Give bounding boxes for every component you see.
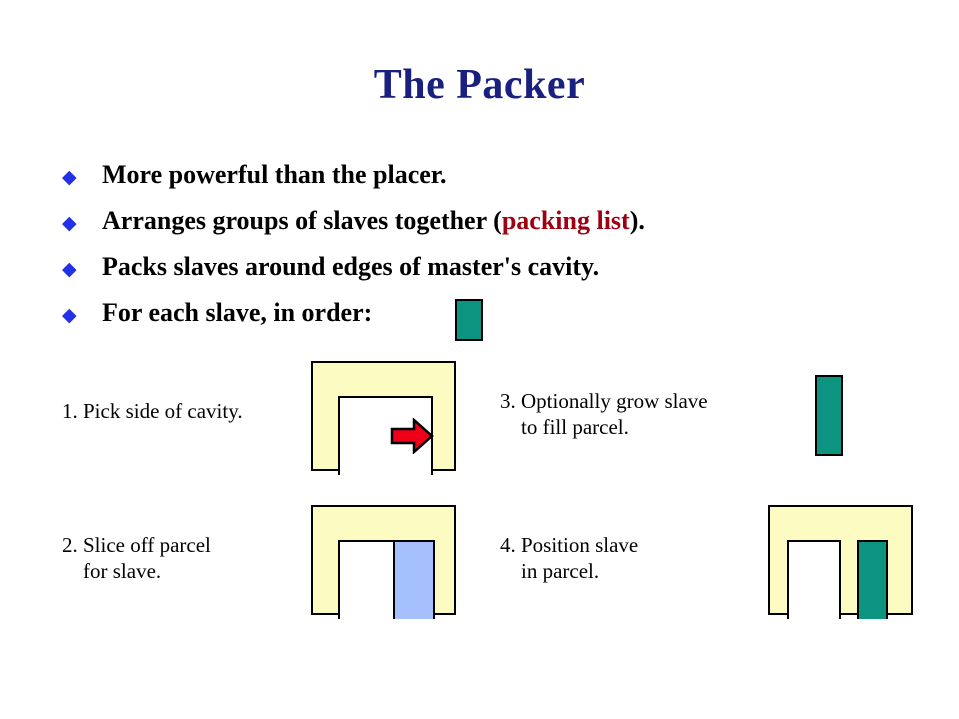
figure-step-2-master xyxy=(311,505,456,615)
step-4-text-line1: Position slave xyxy=(521,533,638,557)
step-2-text-line2: for slave. xyxy=(83,559,161,583)
diamond-bullet-icon: ◆ xyxy=(62,206,102,239)
step-2-number: 2. xyxy=(62,532,78,558)
step-1-text: Pick side of cavity. xyxy=(83,398,243,424)
step-2-text: Slice off parcelfor slave. xyxy=(83,532,211,584)
bullet-item-3-label: Packs slaves around edges of master's ca… xyxy=(102,252,599,282)
diamond-bullet-icon: ◆ xyxy=(62,252,102,285)
step-4-text: Position slavein parcel. xyxy=(521,532,638,584)
cavity-region xyxy=(338,540,395,619)
step-1-label: 1. Pick side of cavity. xyxy=(62,398,243,424)
diamond-bullet-icon: ◆ xyxy=(62,160,102,193)
bullet-item-4-label: For each slave, in order: xyxy=(102,298,372,328)
bullet-item-2-text: Arranges groups of slaves together ( xyxy=(102,206,502,235)
diamond-bullet-icon: ◆ xyxy=(62,298,102,331)
step-3-number: 3. xyxy=(500,388,516,414)
bullet-item-2-tail: ). xyxy=(630,206,645,235)
figure-step-1-master xyxy=(311,361,456,471)
bullet-item-3: ◆ Packs slaves around edges of master's … xyxy=(62,252,882,298)
parcel-region xyxy=(393,540,435,619)
bullet-item-1-label: More powerful than the placer. xyxy=(102,160,446,190)
packing-list-highlight: packing list xyxy=(502,206,630,235)
cavity-region xyxy=(787,540,841,619)
arrow-right-icon xyxy=(390,418,434,454)
step-1-number: 1. xyxy=(62,398,78,424)
page-title: The Packer xyxy=(0,62,959,108)
step-4-label: 4. Position slavein parcel. xyxy=(500,532,638,584)
figure-step-3-grown-slave xyxy=(815,375,843,456)
bullet-item-2-label: Arranges groups of slaves together (pack… xyxy=(102,206,645,236)
bullet-item-2: ◆ Arranges groups of slaves together (pa… xyxy=(62,206,882,252)
step-3-text: Optionally grow slaveto fill parcel. xyxy=(521,388,708,440)
step-4-text-line2: in parcel. xyxy=(521,559,599,583)
figure-step-4-master xyxy=(768,505,913,615)
step-3-text-line1: Optionally grow slave xyxy=(521,389,708,413)
step-3-label: 3. Optionally grow slaveto fill parcel. xyxy=(500,388,708,440)
step-2-label: 2. Slice off parcelfor slave. xyxy=(62,532,211,584)
slave-block-inline xyxy=(455,299,483,341)
step-4-number: 4. xyxy=(500,532,516,558)
step-3-text-line2: to fill parcel. xyxy=(521,415,629,439)
bullet-item-1: ◆ More powerful than the placer. xyxy=(62,160,882,206)
step-2-text-line1: Slice off parcel xyxy=(83,533,211,557)
slave-block-positioned xyxy=(857,540,888,619)
